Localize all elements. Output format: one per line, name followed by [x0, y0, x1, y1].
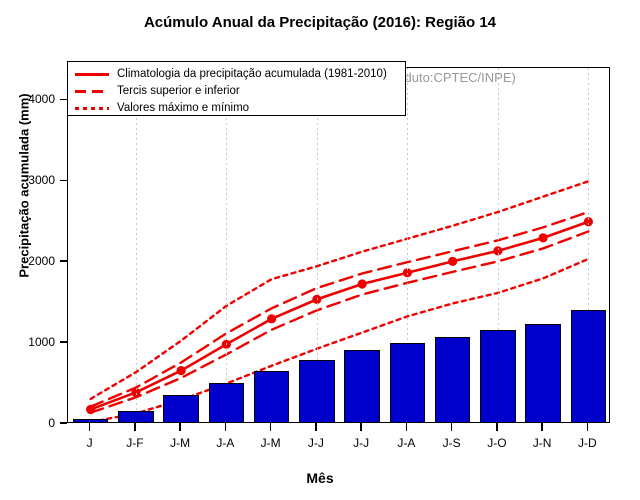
legend-item-extremos: Valores máximo e mínimo	[74, 100, 399, 116]
legend-label: Valores máximo e mínimo	[117, 102, 249, 114]
x-tick-label: J-J	[353, 436, 369, 450]
x-tick-mark	[451, 423, 453, 431]
bar	[73, 419, 108, 422]
x-tick-label: J-A	[216, 436, 234, 450]
plot-area	[67, 67, 610, 423]
chart-legend: Climatologia da precipitação acumulada (…	[67, 61, 406, 116]
x-tick-mark	[315, 423, 317, 431]
legend-solid-line-icon	[74, 68, 110, 80]
legend-dotted-line-icon	[74, 102, 110, 114]
series-marker	[177, 366, 186, 375]
legend-item-climatologia: Climatologia da precipitação acumulada (…	[74, 66, 399, 82]
series-marker	[448, 257, 457, 266]
bar	[435, 337, 470, 422]
bar	[209, 383, 244, 422]
x-tick-label: J-J	[308, 436, 324, 450]
x-tick-mark	[360, 423, 362, 431]
series-marker	[539, 233, 548, 242]
x-tick-mark	[541, 423, 543, 431]
series-marker	[267, 314, 276, 323]
bar	[118, 411, 153, 422]
chart-root: Acúmulo Anual da Precipitação (2016): Re…	[0, 0, 640, 500]
x-tick-mark	[225, 423, 227, 431]
bar	[344, 350, 379, 422]
x-tick-label: J	[87, 436, 93, 450]
series-marker	[358, 279, 367, 288]
x-tick-label: J-S	[443, 436, 461, 450]
x-tick-label: J-F	[126, 436, 143, 450]
x-tick-mark	[406, 423, 408, 431]
x-tick-mark	[496, 423, 498, 431]
bar	[299, 360, 334, 422]
x-tick-mark	[270, 423, 272, 431]
x-tick-mark	[134, 423, 136, 431]
x-tick-mark	[587, 423, 589, 431]
bar	[163, 395, 198, 422]
legend-label: Tercis superior e inferior	[117, 85, 240, 97]
legend-item-tercis: Tercis superior e inferior	[74, 83, 399, 99]
x-tick-label: J-D	[578, 436, 597, 450]
x-tick-label: J-M	[170, 436, 190, 450]
x-tick-label: J-O	[487, 436, 506, 450]
x-tick-mark	[89, 423, 91, 431]
legend-dashed-line-icon	[74, 85, 110, 97]
legend-label: Climatologia da precipitação acumulada (…	[117, 68, 387, 80]
x-tick-mark	[179, 423, 181, 431]
bar	[390, 343, 425, 422]
x-tick-label: J-N	[533, 436, 552, 450]
bar	[480, 330, 515, 422]
gridline	[226, 68, 227, 422]
bar	[254, 371, 289, 422]
gridline	[136, 68, 137, 422]
bar	[571, 310, 606, 422]
x-tick-label: J-M	[261, 436, 281, 450]
bar	[525, 324, 560, 422]
x-tick-label: J-A	[397, 436, 415, 450]
